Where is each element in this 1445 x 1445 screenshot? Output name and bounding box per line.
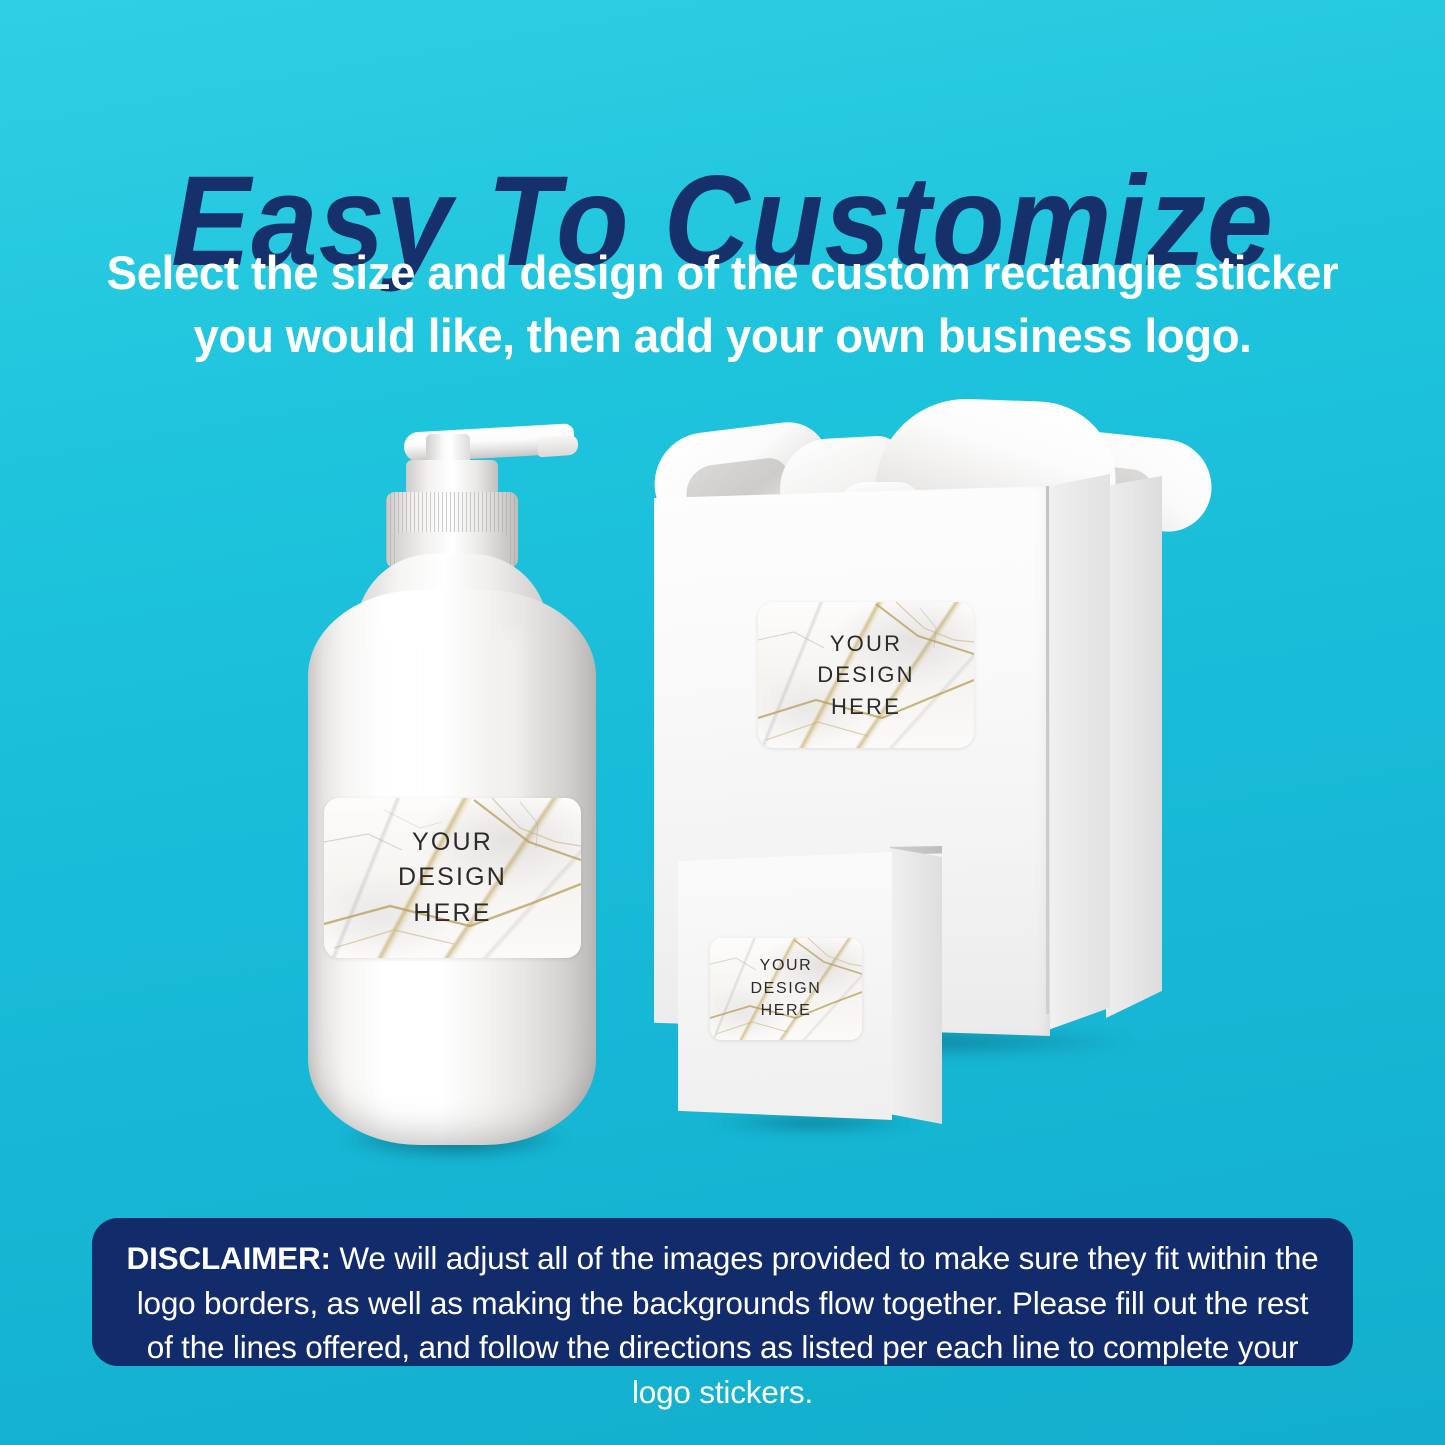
sticker-line-2: DESIGN: [398, 860, 507, 896]
small-box-marble-sticker[interactable]: YOUR DESIGN HERE: [710, 938, 862, 1040]
gift-box-back-side: [1106, 476, 1162, 1018]
small-box: YOUR DESIGN HERE: [670, 840, 960, 1150]
sticker-label: YOUR DESIGN HERE: [324, 798, 581, 958]
gift-box-right-side: [1048, 474, 1110, 1030]
sticker-line-1: YOUR: [412, 825, 493, 861]
small-box-right-side: [890, 848, 942, 1124]
gift-box-lid-seam: [1046, 486, 1049, 1014]
subtitle-line-2: you would like, then add your own busine…: [92, 305, 1354, 368]
sticker-label: YOUR DESIGN HERE: [758, 602, 974, 748]
sticker-line-2: DESIGN: [817, 659, 915, 690]
sticker-line-1: YOUR: [760, 955, 813, 978]
bottle-marble-sticker[interactable]: YOUR DESIGN HERE: [324, 798, 581, 958]
gift-box-marble-sticker[interactable]: YOUR DESIGN HERE: [758, 602, 974, 748]
pump-bottle: YOUR DESIGN HERE: [300, 420, 620, 1240]
subtitle-line-1: Select the size and design of the custom…: [92, 242, 1354, 305]
sticker-label: YOUR DESIGN HERE: [710, 938, 862, 1040]
promo-banner: Easy To Customize Select the size and de…: [0, 0, 1445, 1445]
sticker-line-3: HERE: [831, 691, 901, 722]
sticker-line-2: DESIGN: [751, 978, 822, 1001]
disclaimer-label: DISCLAIMER:: [127, 1240, 331, 1276]
sticker-line-3: HERE: [413, 896, 491, 932]
page-subtitle: Select the size and design of the custom…: [92, 242, 1354, 367]
sticker-line-3: HERE: [761, 1000, 812, 1023]
disclaimer-box: DISCLAIMER: We will adjust all of the im…: [92, 1218, 1353, 1366]
sticker-line-1: YOUR: [830, 628, 902, 659]
pump-spout-tip: [538, 435, 578, 458]
product-scene: YOUR DESIGN HERE: [0, 380, 1445, 1180]
